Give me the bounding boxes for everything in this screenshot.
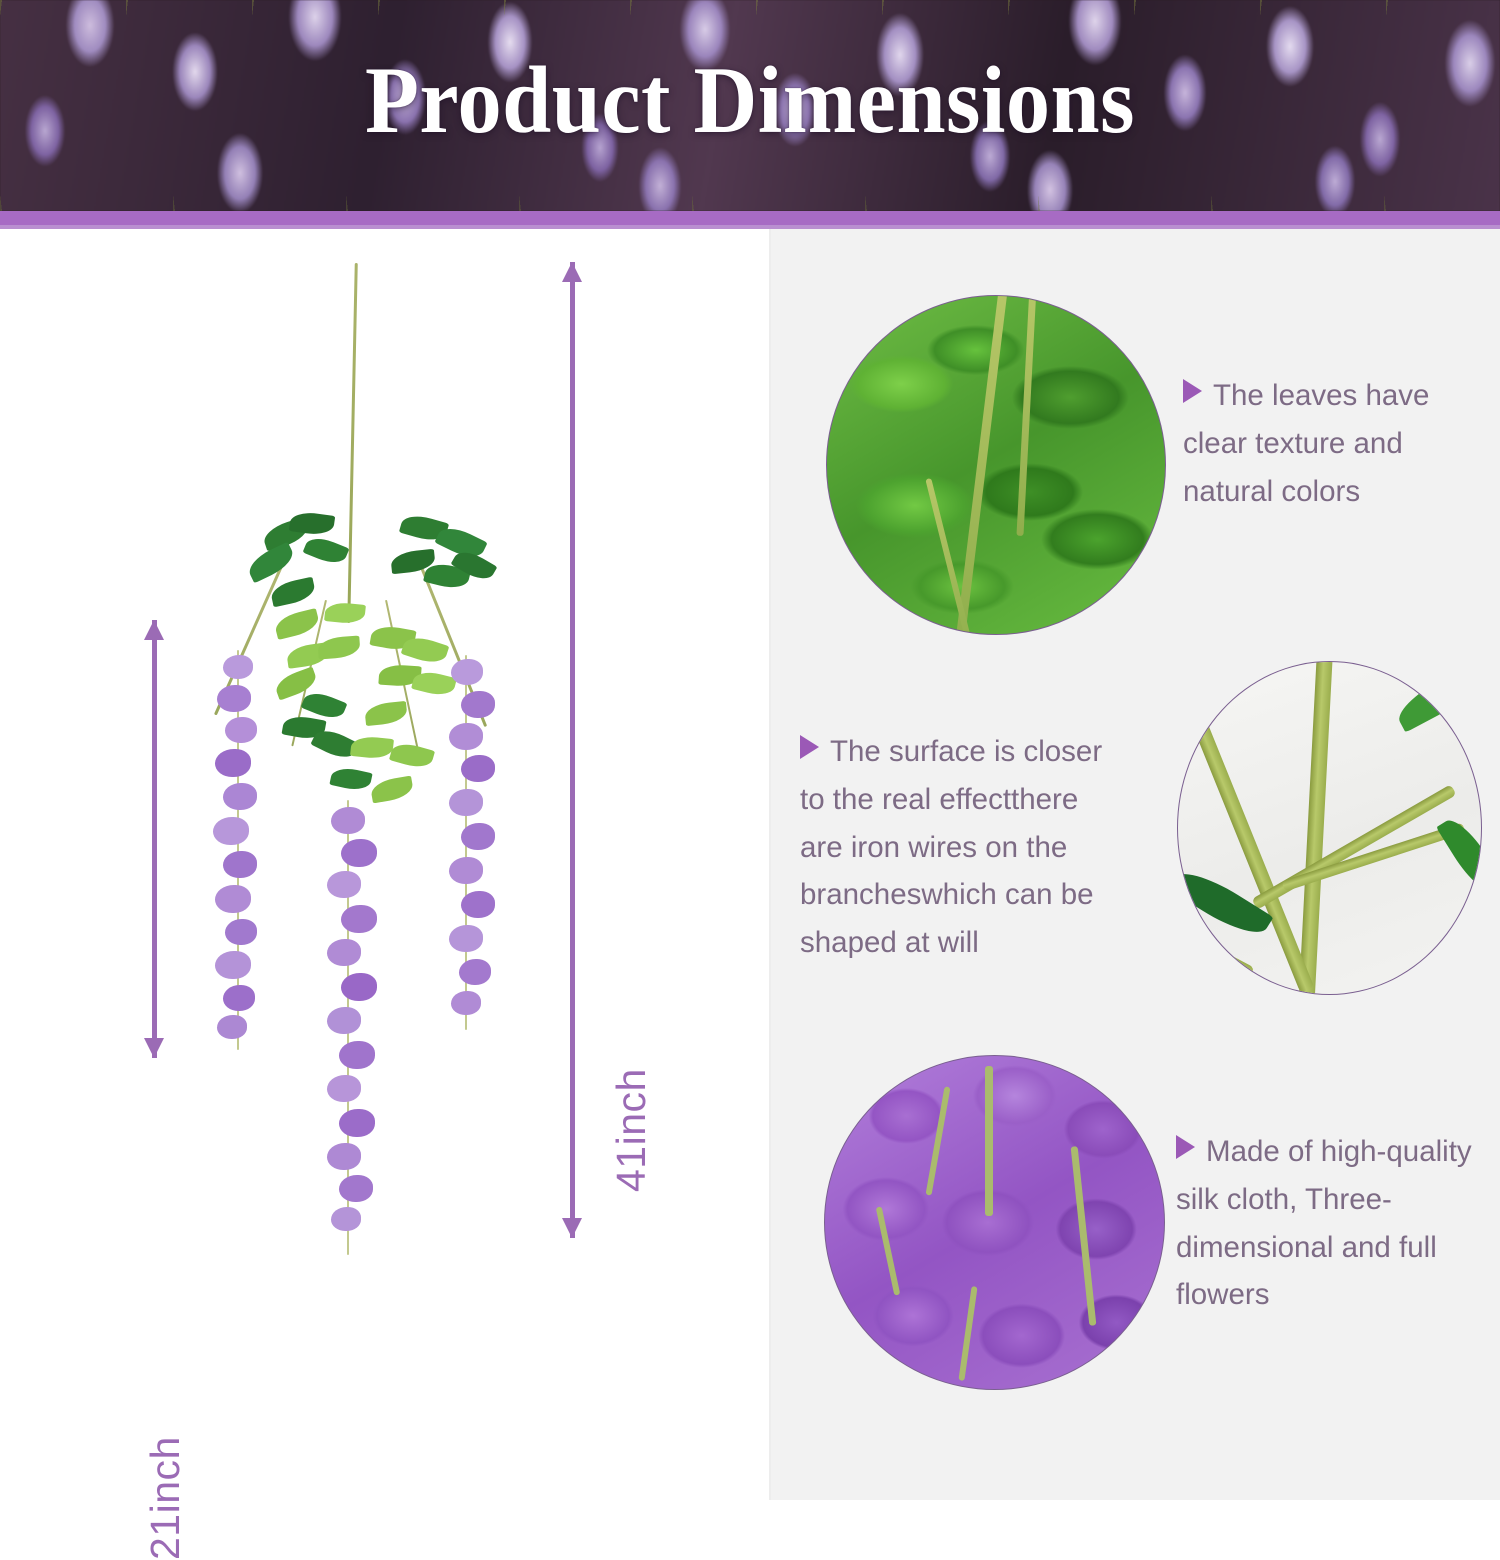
leaves-closeup-photo bbox=[826, 295, 1166, 635]
flower bbox=[327, 871, 361, 898]
dimension-label-21inch: 21inch bbox=[142, 1436, 189, 1560]
flower bbox=[449, 925, 483, 952]
flower bbox=[213, 817, 249, 845]
arrow-shaft bbox=[570, 262, 575, 1238]
leaf bbox=[329, 765, 372, 793]
flower bbox=[341, 905, 377, 933]
flower bbox=[451, 659, 483, 685]
feature-branches-label: The surface is closer to the real effect… bbox=[800, 735, 1102, 959]
branches-closeup-photo bbox=[1177, 661, 1482, 995]
feature-leaves-label: The leaves have clear texture and natura… bbox=[1183, 379, 1429, 508]
flowers-closeup-photo bbox=[824, 1055, 1165, 1390]
leaf bbox=[317, 636, 360, 660]
flower bbox=[223, 655, 253, 679]
flower bbox=[327, 939, 361, 966]
flower bbox=[339, 1175, 373, 1202]
leaf bbox=[303, 533, 350, 568]
flower bbox=[331, 1207, 361, 1231]
flower bbox=[339, 1041, 375, 1069]
product-image bbox=[175, 255, 550, 1265]
flower bbox=[215, 885, 251, 913]
leaf bbox=[324, 601, 366, 625]
flower bbox=[331, 807, 365, 834]
flower bbox=[327, 1075, 361, 1102]
flower bbox=[459, 959, 491, 985]
feature-branches-text: The surface is closer to the real effect… bbox=[800, 728, 1120, 967]
triangle-right-icon bbox=[1183, 379, 1202, 403]
flower bbox=[341, 839, 377, 867]
flower bbox=[449, 857, 483, 884]
header-banner: Product Dimensions bbox=[0, 0, 1500, 211]
dimension-label-41inch: 41inch bbox=[608, 1068, 655, 1192]
flower bbox=[341, 973, 377, 1001]
flower bbox=[225, 717, 257, 743]
main-stem bbox=[347, 263, 358, 623]
leaf bbox=[350, 735, 394, 760]
arrow-shaft bbox=[152, 620, 157, 1058]
flower bbox=[449, 789, 483, 816]
panel-divider bbox=[769, 229, 771, 1500]
flower bbox=[461, 891, 495, 918]
leaf bbox=[389, 740, 435, 772]
triangle-right-icon bbox=[1176, 1135, 1195, 1159]
triangle-right-icon bbox=[800, 735, 819, 759]
flower bbox=[327, 1143, 361, 1170]
page-title: Product Dimensions bbox=[53, 0, 1448, 200]
arrow-head-down-icon bbox=[562, 1218, 582, 1238]
product-dimensions-infographic: Product Dimensions bbox=[0, 0, 1500, 1500]
flower bbox=[461, 691, 495, 718]
flower bbox=[451, 991, 481, 1015]
arrow-head-down-icon bbox=[144, 1038, 164, 1058]
flower bbox=[225, 919, 257, 945]
flower bbox=[223, 783, 257, 810]
leaf bbox=[273, 608, 321, 640]
flower bbox=[223, 985, 255, 1011]
flower bbox=[327, 1007, 361, 1034]
feature-flowers-label: Made of high-quality silk cloth, Three-d… bbox=[1176, 1135, 1472, 1311]
flower bbox=[215, 749, 251, 777]
flower bbox=[339, 1109, 375, 1137]
flower bbox=[217, 1015, 247, 1039]
flower bbox=[461, 755, 495, 782]
leaf bbox=[364, 701, 408, 726]
flower bbox=[449, 723, 483, 750]
feature-flowers-text: Made of high-quality silk cloth, Three-d… bbox=[1176, 1128, 1481, 1319]
flower bbox=[223, 851, 257, 878]
feature-leaves-text: The leaves have clear texture and natura… bbox=[1183, 372, 1483, 515]
leaf bbox=[369, 776, 414, 804]
flower bbox=[461, 823, 495, 850]
flower bbox=[215, 951, 251, 979]
flower bbox=[217, 685, 251, 712]
